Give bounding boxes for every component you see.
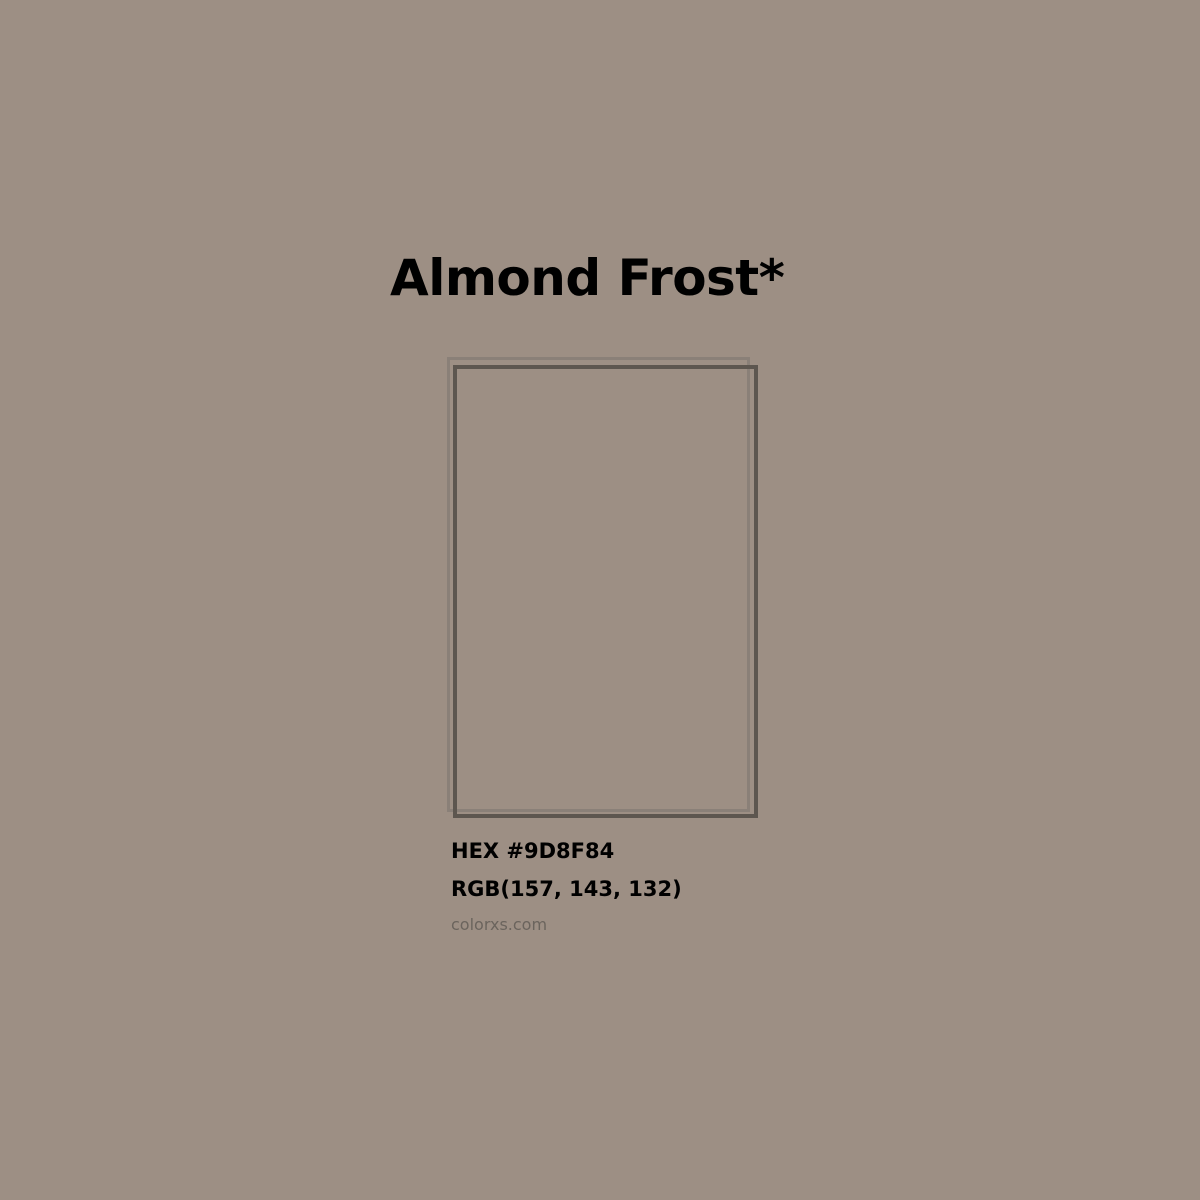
site-credit: colorxs.com [451,910,951,940]
color-value-block: HEX #9D8F84 RGB(157, 143, 132) colorxs.c… [451,832,951,940]
swatch-outline-inner [453,365,758,818]
rgb-value: RGB(157, 143, 132) [451,870,951,908]
hex-value: HEX #9D8F84 [451,832,951,870]
color-swatch-page: Almond Frost* HEX #9D8F84 RGB(157, 143, … [0,0,1200,1200]
page-title: Almond Frost* [390,247,784,309]
color-swatch [447,357,758,818]
